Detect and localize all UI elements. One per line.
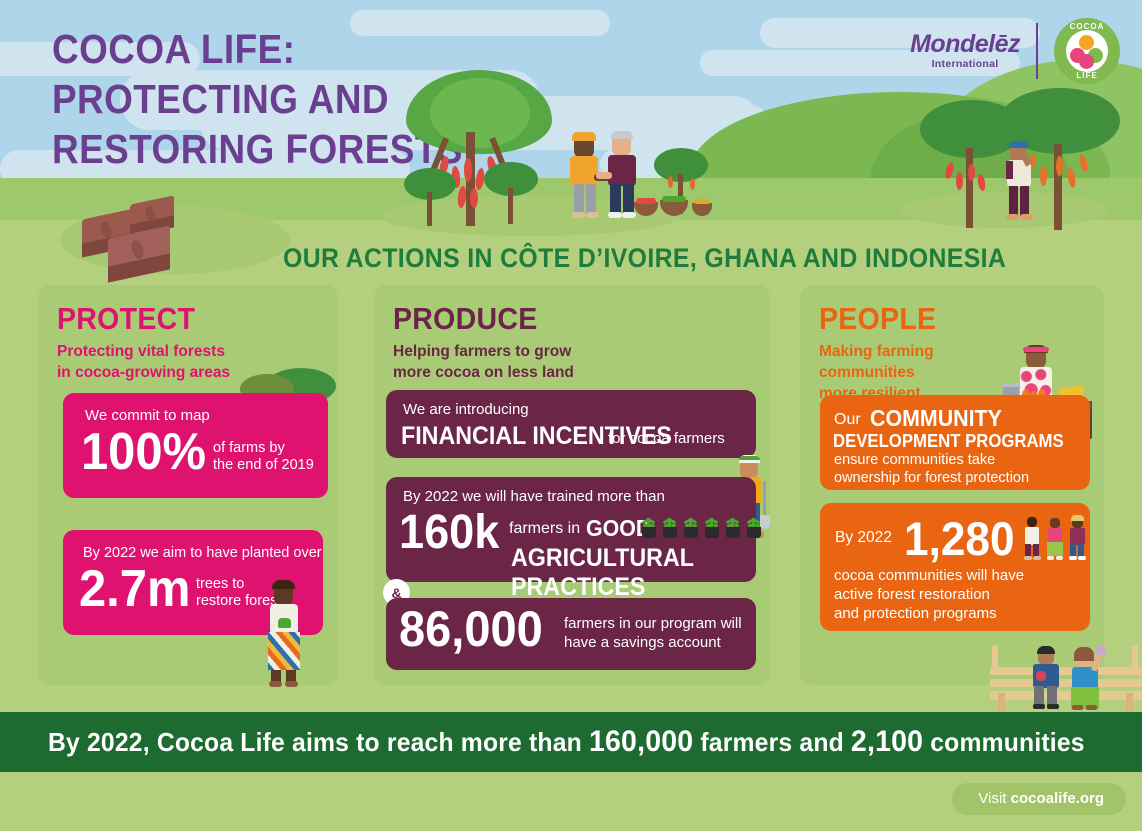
banner-suffix: communities xyxy=(923,727,1084,757)
seated-community-icon xyxy=(1025,515,1087,563)
produce-card-savings-number: 86,000 xyxy=(399,606,543,652)
seedling-pot-icon xyxy=(663,518,677,538)
people-card-communities-number: 1,280 xyxy=(904,517,1015,560)
people-card-communities-body: cocoa communities will have active fores… xyxy=(834,566,1024,624)
cocoa-life-flower-icon xyxy=(1066,30,1108,72)
harvest-baskets-illustration xyxy=(634,196,714,222)
seedling-pot-icon xyxy=(684,518,698,538)
mondelez-logo: Mondelēz International xyxy=(910,32,1020,70)
banner-number-farmers: 160,000 xyxy=(589,725,693,758)
woman-with-seedling-illustration xyxy=(262,580,306,688)
produce-card-incentives: We are introducing FINANCIAL INCENTIVES … xyxy=(386,390,756,458)
banner-mid: farmers and xyxy=(693,727,851,757)
visit-url: cocoalife.org xyxy=(1011,790,1104,807)
seedling-pot-icon xyxy=(705,518,719,538)
bottom-banner: By 2022, Cocoa Life aims to reach more t… xyxy=(0,712,1142,772)
small-tree-illustration xyxy=(484,162,538,224)
produce-card-incentives-lead: We are introducing xyxy=(403,401,529,420)
protect-card-map: We commit to map 100% of farms by the en… xyxy=(63,393,328,498)
mondelez-subtitle: International xyxy=(910,59,1020,70)
people-card-programs: Our COMMUNITY DEVELOPMENT PROGRAMS ensur… xyxy=(820,395,1090,490)
cocoa-harvester-illustration xyxy=(1002,140,1038,228)
produce-card-training-number: 160k xyxy=(399,511,499,555)
protect-card-map-number: 100% xyxy=(81,429,206,477)
banner-number-communities: 2,100 xyxy=(851,725,923,758)
cocoa-life-logo: COCOA LIFE xyxy=(1054,18,1120,84)
visit-prefix: Visit xyxy=(978,790,1010,807)
couple-on-bench-illustration xyxy=(990,645,1142,713)
logo-group: Mondelēz International COCOA LIFE xyxy=(910,18,1120,84)
logo-divider xyxy=(1036,23,1038,79)
produce-card-savings-note: farmers in our program will have a savin… xyxy=(564,615,742,653)
section-heading: OUR ACTIONS IN CÔTE D’IVOIRE, GHANA AND … xyxy=(283,243,1006,274)
people-card-communities-by: By 2022 xyxy=(835,529,892,547)
chocolate-bars-illustration xyxy=(78,188,198,278)
people-title: PEOPLE xyxy=(819,301,1081,337)
people-card-programs-heading: Our COMMUNITY xyxy=(834,405,1012,432)
produce-title: PRODUCE xyxy=(393,301,740,337)
cocoa-life-logo-bottom-text: LIFE xyxy=(1054,71,1120,80)
banner-prefix: By 2022, Cocoa Life aims to reach more t… xyxy=(48,727,589,757)
mondelez-wordmark: Mondelēz xyxy=(910,32,1020,57)
people-card-programs-highlight1: COMMUNITY xyxy=(870,405,1002,432)
seedling-pot-icon xyxy=(726,518,740,538)
produce-card-incentives-note: for cocoa farmers xyxy=(608,430,725,447)
footer: Visit cocoalife.org xyxy=(0,772,1142,831)
people-card-programs-highlight2: DEVELOPMENT PROGRAMS xyxy=(833,431,1064,452)
people-card-programs-body: ensure communities take ownership for fo… xyxy=(834,451,1029,487)
produce-subtitle: Helping farmers to grow more cocoa on le… xyxy=(393,342,770,384)
produce-card-training-mid: farmers in xyxy=(509,520,580,538)
produce-card-training: By 2022 we will have trained more than 1… xyxy=(386,477,756,582)
seedling-pot-icon xyxy=(642,518,656,538)
protect-title: PROTECT xyxy=(57,301,316,337)
produce-card-training-lead: By 2022 we will have trained more than xyxy=(403,488,665,507)
people-card-communities: By 2022 1,280 cocoa communities will hav… xyxy=(820,503,1090,631)
produce-card-training-practices: AGRICULTURAL PRACTICES xyxy=(511,544,739,602)
bottom-banner-text: By 2022, Cocoa Life aims to reach more t… xyxy=(48,725,1085,759)
protect-card-trees-number: 2.7m xyxy=(79,566,190,614)
seedling-pot-icon xyxy=(747,518,761,538)
small-tree-illustration xyxy=(404,168,456,226)
people-card-programs-our: Our xyxy=(834,411,861,428)
visit-link[interactable]: Visit cocoalife.org xyxy=(952,783,1126,815)
seedling-row xyxy=(642,518,761,538)
protect-card-map-note: of farms by the end of 2019 xyxy=(213,440,314,475)
infographic-canvas: COCOA LIFE: PROTECTING AND RESTORING FOR… xyxy=(0,0,1142,831)
produce-card-savings: 86,000 farmers in our program will have … xyxy=(386,598,756,670)
